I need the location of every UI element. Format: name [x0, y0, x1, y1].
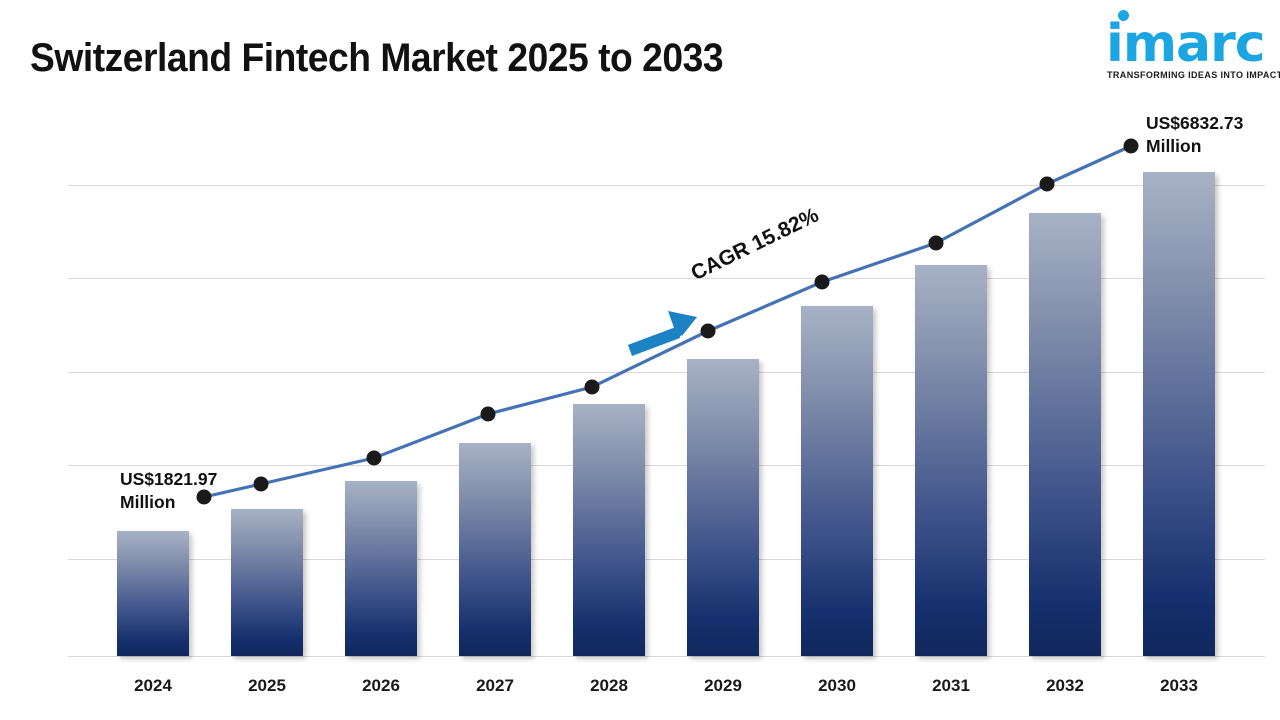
trend-marker-2032[interactable] — [1040, 177, 1055, 192]
x-tick-2025: 2025 — [212, 676, 322, 696]
trend-marker-2029[interactable] — [701, 324, 716, 339]
trend-line — [204, 146, 1131, 497]
x-tick-2029: 2029 — [668, 676, 778, 696]
end-value-line1: US$6832.73 — [1146, 112, 1243, 135]
chart-page: Switzerland Fintech Market 2025 to 2033 … — [0, 0, 1280, 720]
x-tick-2031: 2031 — [896, 676, 1006, 696]
end-value-label: US$6832.73 Million — [1146, 112, 1243, 158]
start-value-line1: US$1821.97 — [120, 468, 217, 491]
chart-plot-area: 2024202520262027202820292030203120322033… — [0, 0, 1280, 720]
x-tick-2028: 2028 — [554, 676, 664, 696]
x-tick-2032: 2032 — [1010, 676, 1120, 696]
x-tick-2030: 2030 — [782, 676, 892, 696]
x-tick-2024: 2024 — [98, 676, 208, 696]
trend-line-layer — [0, 0, 1280, 720]
trend-marker-2026[interactable] — [367, 451, 382, 466]
trend-marker-2030[interactable] — [815, 275, 830, 290]
trend-marker-2028[interactable] — [585, 380, 600, 395]
growth-arrow-icon — [628, 311, 697, 356]
x-tick-2027: 2027 — [440, 676, 550, 696]
trend-markers — [197, 139, 1139, 505]
start-value-line2: Million — [120, 491, 217, 514]
trend-marker-2033[interactable] — [1124, 139, 1139, 154]
start-value-label: US$1821.97 Million — [120, 468, 217, 514]
trend-marker-2025[interactable] — [254, 477, 269, 492]
end-value-line2: Million — [1146, 135, 1243, 158]
x-tick-2026: 2026 — [326, 676, 436, 696]
trend-marker-2027[interactable] — [481, 407, 496, 422]
x-tick-2033: 2033 — [1124, 676, 1234, 696]
trend-marker-2031[interactable] — [929, 236, 944, 251]
